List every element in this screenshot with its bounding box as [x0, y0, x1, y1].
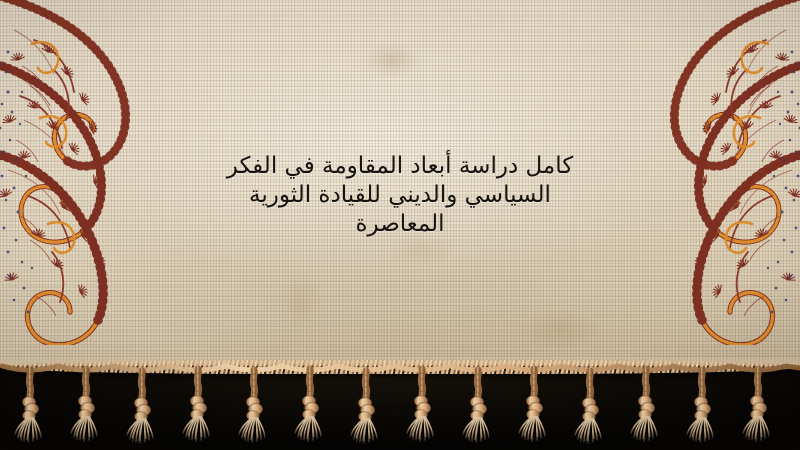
paisley-scroll-ornament-right-icon	[506, 0, 800, 345]
paisley-scroll-ornament-left-icon	[0, 0, 294, 345]
slide-canvas: كامل دراسة أبعاد المقاومة في الفكر السيا…	[0, 0, 800, 450]
rope-tassel-fringe-icon	[0, 360, 800, 450]
